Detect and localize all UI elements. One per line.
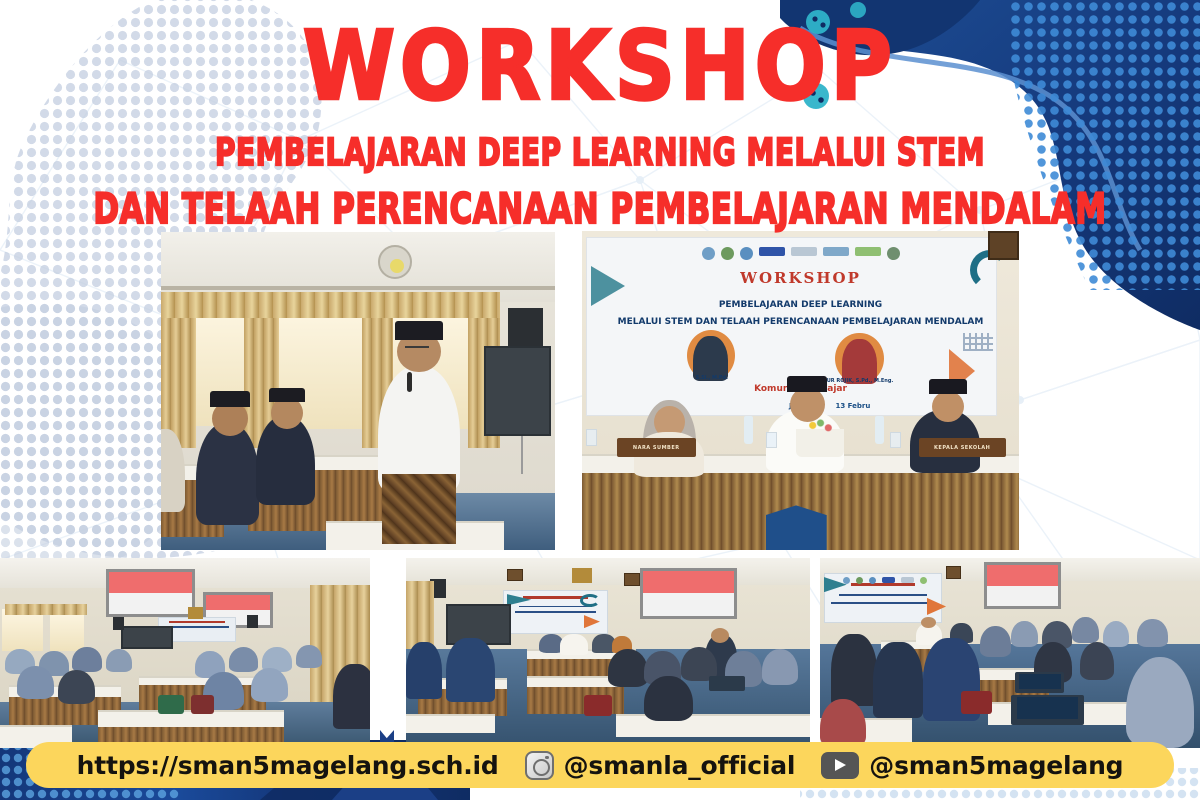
poster-subtitle-line-1: PEMBELAJARAN DEEP LEARNING MELALUI STEM (0, 130, 1200, 175)
banner-line-1: PEMBELAJARAN DEEP LEARNING (582, 300, 1019, 310)
youtube-item[interactable]: @sman5magelang (821, 751, 1123, 780)
banner-logo (740, 247, 753, 260)
youtube-handle[interactable]: @sman5magelang (869, 751, 1123, 780)
banner-logo (855, 247, 881, 256)
instagram-icon[interactable] (525, 751, 554, 780)
nameplate-kepala-sekolah: KEPALA SEKOLAH (919, 438, 1006, 457)
instagram-item[interactable]: @smanla_official (525, 751, 796, 780)
youtube-icon[interactable] (821, 752, 859, 779)
photo-participants-with-laptops (820, 558, 1200, 748)
banner-logo (843, 577, 850, 584)
workshop-poster: WORKSHOP PEMBELAJARAN DEEP LEARNING MELA… (0, 0, 1200, 800)
photo-panel-table-with-banner: WORKSHOP PEMBELAJARAN DEEP LEARNING MELA… (582, 231, 1019, 550)
banner-speaker-1-credential: S.Si., M.Pd. (696, 375, 757, 388)
banner-line-2: MELALUI STEM DAN TELAAH PERENCANAAN PEMB… (582, 317, 1019, 327)
website-url[interactable]: https://sman5magelang.sch.id (77, 751, 499, 780)
banner-logo (759, 247, 785, 256)
poster-subtitle-line-2: DAN TELAAH PERENCANAAN PEMBELAJARAN MEND… (0, 185, 1200, 234)
banner-logo (920, 577, 927, 584)
poster-title-block: WORKSHOP PEMBELAJARAN DEEP LEARNING MELA… (0, 22, 1200, 221)
website-item[interactable]: https://sman5magelang.sch.id (77, 751, 499, 780)
banner-logo (882, 577, 895, 583)
banner-speaker-2-credential: UR ROJIK, S.Pd., M.Eng. (827, 378, 932, 391)
banner-logo (901, 577, 914, 583)
banner-logo (856, 577, 863, 584)
photo-audience-wide-view (0, 558, 370, 748)
nameplate-nara-sumber: NARA SUMBER (617, 438, 696, 457)
instagram-handle[interactable]: @smanla_official (564, 751, 796, 780)
photo-room-from-back (406, 558, 810, 748)
banner-logo (823, 247, 849, 256)
banner-workshop-word: WORKSHOP (582, 269, 1019, 287)
banner-logo (869, 577, 876, 584)
footer-contact-bar: https://sman5magelang.sch.id @smanla_off… (26, 742, 1174, 788)
banner-logo (887, 247, 900, 260)
banner-logo (721, 247, 734, 260)
banner-logo (702, 247, 715, 260)
banner-logo (791, 247, 817, 256)
photo-speaker-with-microphone (161, 232, 555, 550)
poster-title-main: WORKSHOP (0, 22, 1200, 112)
